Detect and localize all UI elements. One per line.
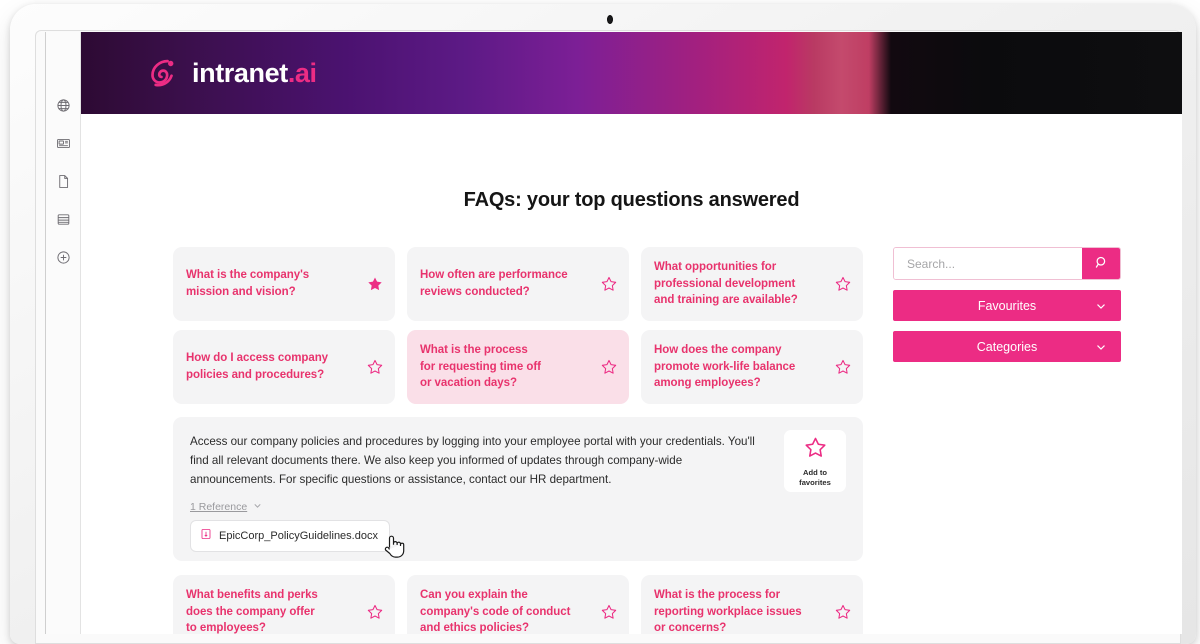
- faq-question-text: What opportunities for professional deve…: [654, 259, 831, 309]
- faq-question-text: What benefits and perks does the company…: [186, 587, 363, 634]
- faq-card[interactable]: How often are performance reviews conduc…: [407, 247, 629, 321]
- search-input[interactable]: [894, 248, 1082, 279]
- brand-logo[interactable]: intranet.ai: [143, 54, 317, 92]
- add-to-favorites-button[interactable]: Add to favorites: [784, 430, 846, 492]
- side-panel: Favourites Categories: [893, 247, 1121, 362]
- chevron-down-icon: [1094, 340, 1108, 354]
- faq-card[interactable]: What is the process for requesting time …: [407, 330, 629, 404]
- page-title: FAQs: your top questions answered: [81, 189, 1182, 212]
- faq-row-2: How do I access company policies and pro…: [173, 330, 863, 404]
- faq-card[interactable]: What benefits and perks does the company…: [173, 575, 395, 634]
- brand-header: intranet.ai: [81, 32, 1182, 114]
- star-outline-icon: [803, 435, 828, 465]
- add-to-favorites-label: Add to favorites: [799, 468, 831, 487]
- categories-dropdown[interactable]: Categories: [893, 331, 1121, 362]
- pointing-hand-cursor: [383, 534, 405, 560]
- device-camera: [607, 15, 613, 24]
- star-outline-icon[interactable]: [597, 600, 621, 624]
- document-icon[interactable]: [52, 170, 74, 192]
- star-filled-icon[interactable]: [363, 272, 387, 296]
- reference-toggle[interactable]: 1 Reference: [190, 498, 263, 516]
- device-frame: intranet.ai FAQs: your top questions ans…: [10, 4, 1196, 644]
- search-button[interactable]: [1082, 248, 1120, 279]
- favourites-dropdown[interactable]: Favourites: [893, 290, 1121, 321]
- star-outline-icon[interactable]: [597, 272, 621, 296]
- reference-label: 1 Reference: [190, 501, 247, 513]
- brand-name: intranet.ai: [192, 58, 317, 89]
- star-outline-icon[interactable]: [831, 600, 855, 624]
- reference-file-name: EpicCorp_PolicyGuidelines.docx: [219, 530, 378, 542]
- docx-file-icon: [200, 527, 212, 545]
- news-icon[interactable]: [52, 132, 74, 154]
- faq-question-text: How often are performance reviews conduc…: [420, 267, 597, 300]
- chevron-down-icon: [252, 498, 263, 516]
- star-outline-icon[interactable]: [363, 355, 387, 379]
- faq-card[interactable]: What opportunities for professional deve…: [641, 247, 863, 321]
- faq-card[interactable]: Can you explain the company's code of co…: [407, 575, 629, 634]
- categories-label: Categories: [977, 340, 1037, 354]
- answer-panel: Access our company policies and procedur…: [173, 417, 863, 561]
- faq-card[interactable]: How do I access company policies and pro…: [173, 330, 395, 404]
- reference-file-chip[interactable]: EpicCorp_PolicyGuidelines.docx: [190, 520, 390, 552]
- faq-question-text: How do I access company policies and pro…: [186, 350, 363, 383]
- faq-card[interactable]: What is the process for reporting workpl…: [641, 575, 863, 634]
- search-icon: [1094, 255, 1109, 273]
- faq-question-text: Can you explain the company's code of co…: [420, 587, 597, 634]
- answer-text: Access our company policies and procedur…: [190, 433, 770, 489]
- favourites-label: Favourites: [978, 299, 1036, 313]
- app-screen: intranet.ai FAQs: your top questions ans…: [45, 32, 1182, 634]
- page-content: FAQs: your top questions answered What i…: [81, 114, 1182, 634]
- faq-card[interactable]: What is the company's mission and vision…: [173, 247, 395, 321]
- search-box: [893, 247, 1121, 280]
- plus-circle-icon[interactable]: [52, 246, 74, 268]
- faq-question-text: How does the company promote work-life b…: [654, 342, 831, 392]
- left-icon-rail: [46, 32, 81, 634]
- star-outline-icon[interactable]: [831, 272, 855, 296]
- brand-suffix-text: .ai: [288, 58, 317, 88]
- star-outline-icon[interactable]: [831, 355, 855, 379]
- faq-row-3: What benefits and perks does the company…: [173, 575, 863, 634]
- brand-name-text: intranet: [192, 58, 288, 88]
- globe-icon[interactable]: [52, 94, 74, 116]
- table-icon[interactable]: [52, 208, 74, 230]
- intranet-ai-logo-icon: [143, 54, 181, 92]
- star-outline-icon[interactable]: [597, 355, 621, 379]
- faq-card[interactable]: How does the company promote work-life b…: [641, 330, 863, 404]
- star-outline-icon[interactable]: [363, 600, 387, 624]
- chevron-down-icon: [1094, 299, 1108, 313]
- faq-question-text: What is the company's mission and vision…: [186, 267, 363, 300]
- faq-row-1: What is the company's mission and vision…: [173, 247, 863, 321]
- faq-question-text: What is the process for reporting workpl…: [654, 587, 831, 634]
- faq-question-text: What is the process for requesting time …: [420, 342, 597, 392]
